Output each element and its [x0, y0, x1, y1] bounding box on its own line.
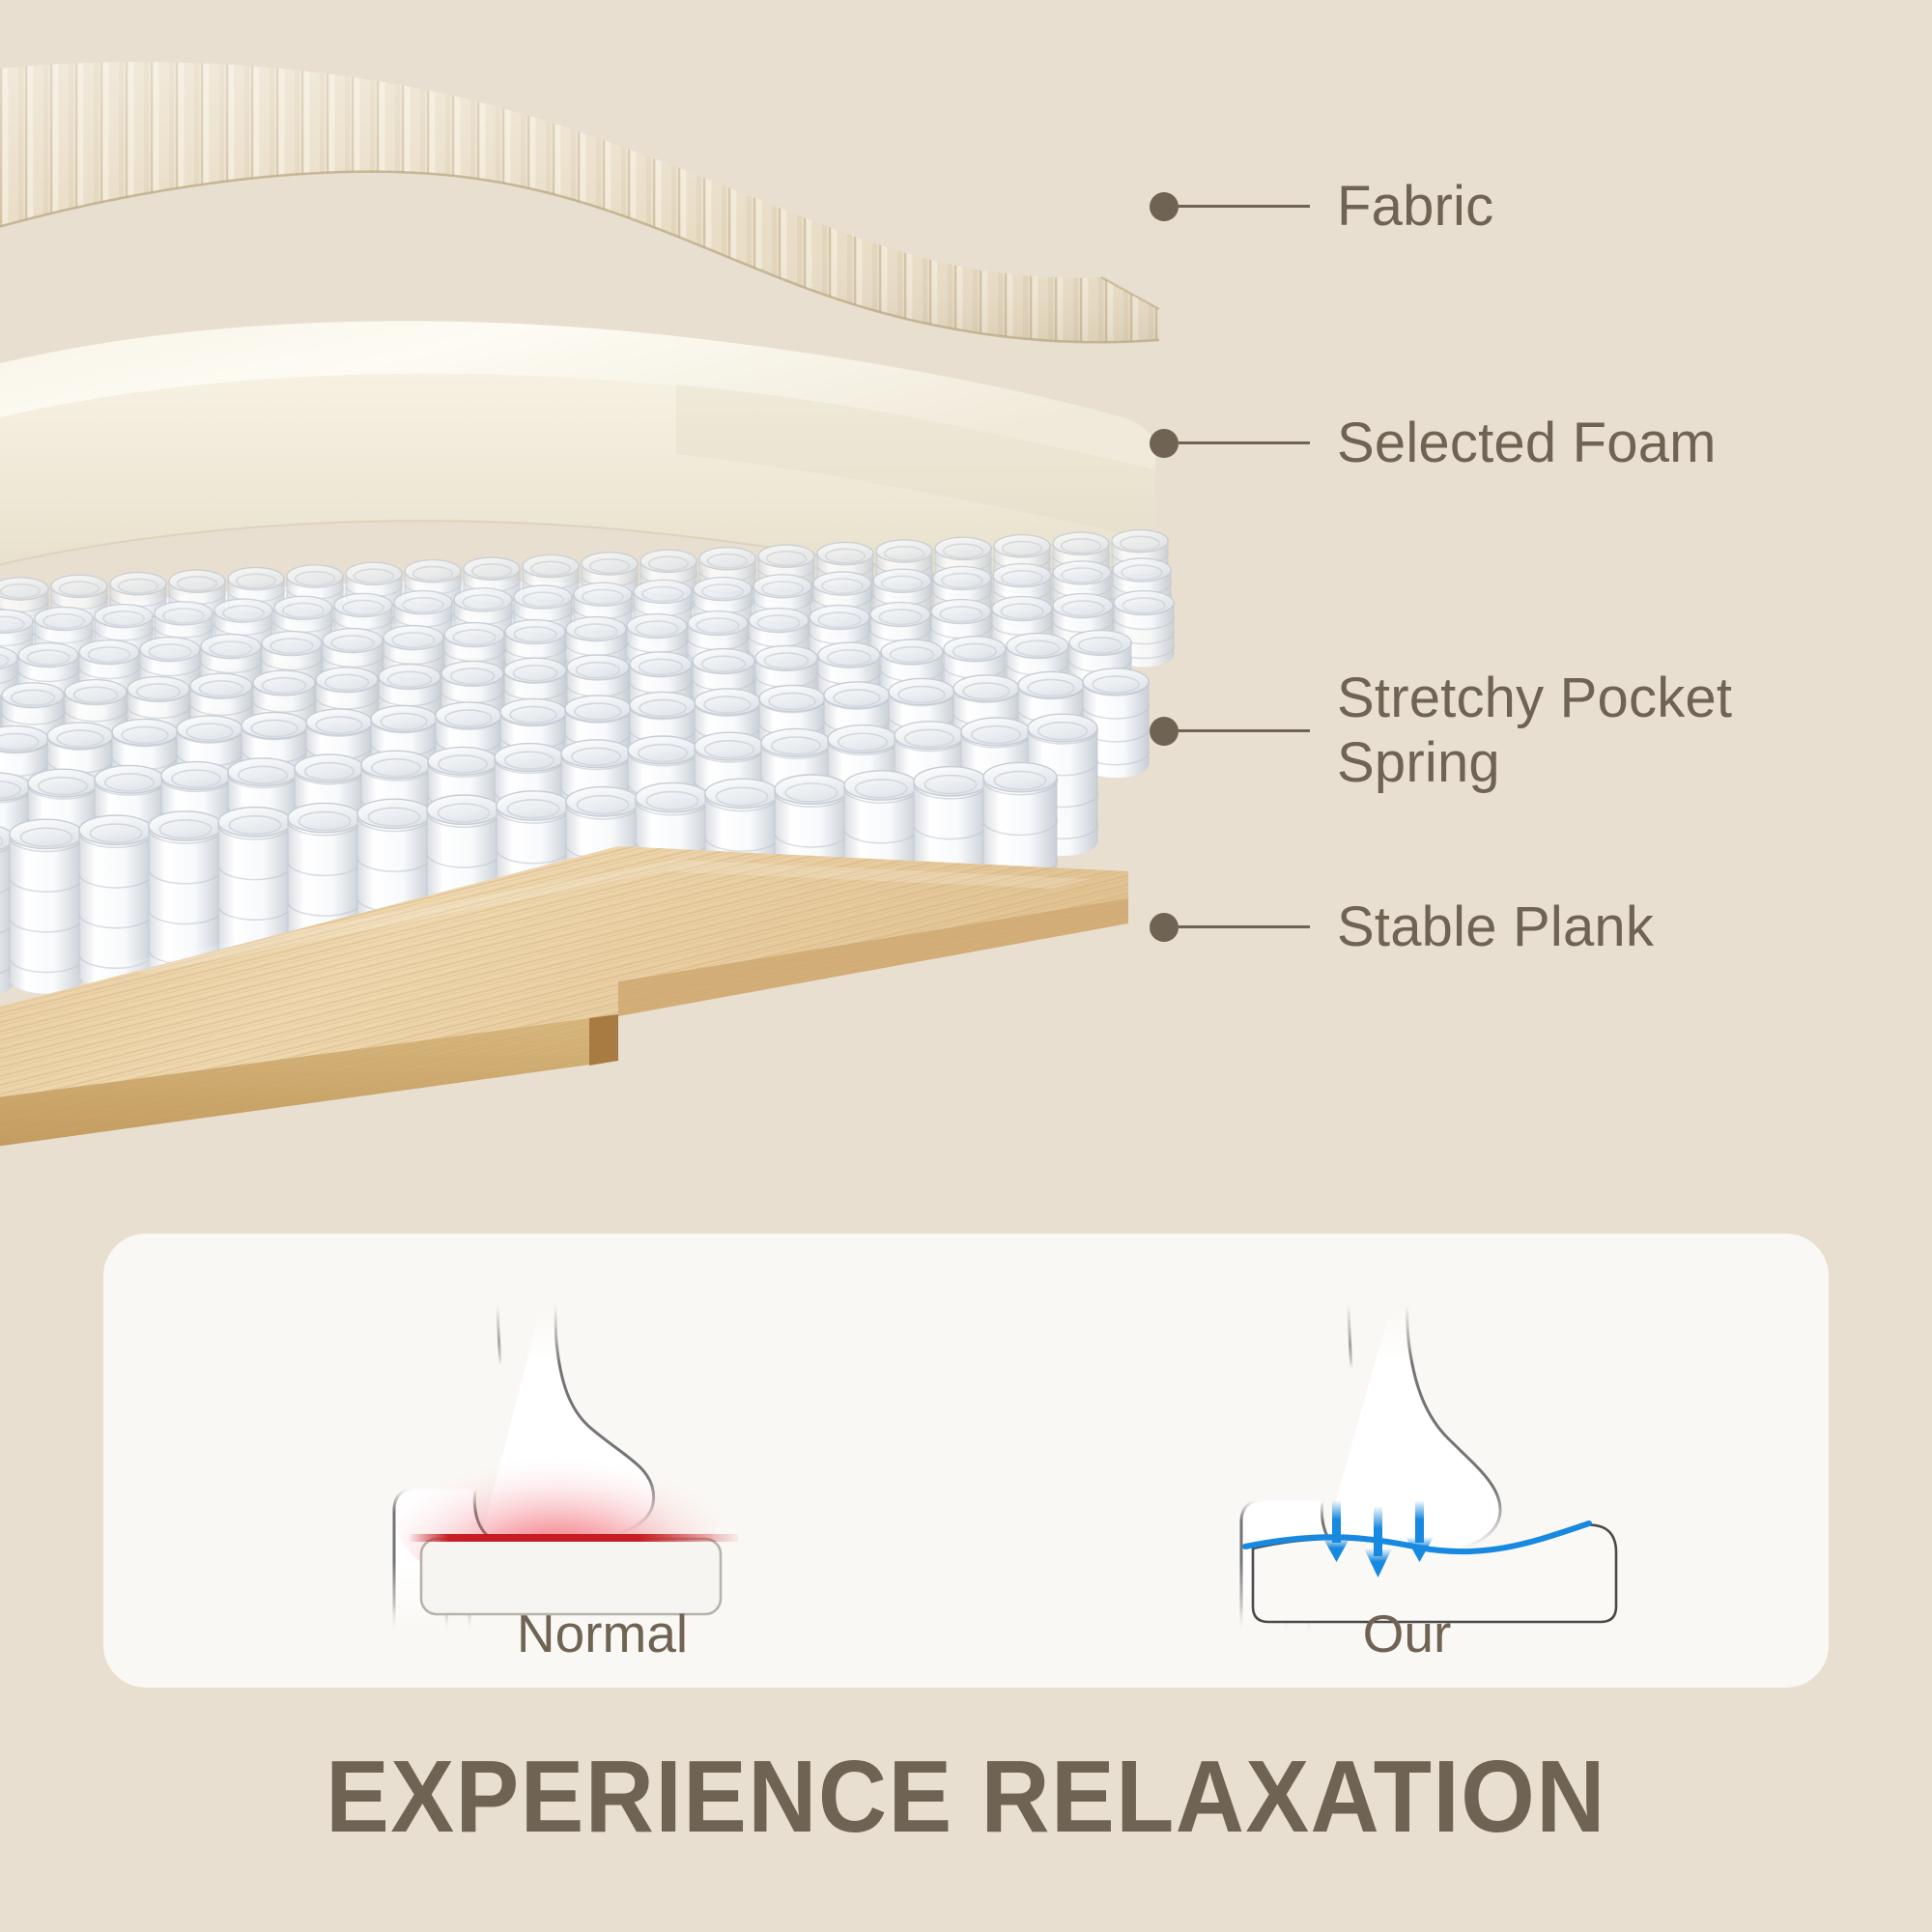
- comparison-panel-normal: Normal: [103, 1234, 966, 1688]
- pressure-contact-line: [410, 1534, 738, 1542]
- comparison-label-our: Our: [966, 1603, 1838, 1664]
- callout-label-selected-foam: Selected Foam: [1337, 411, 1717, 476]
- our-support-diagram: [1079, 1247, 1717, 1634]
- comparison-label-normal: Normal: [103, 1603, 1034, 1664]
- infographic-stage: Fabric Selected Foam Stretchy Pocket Spr…: [0, 0, 1932, 1932]
- mattress-layer-illustration: [0, 0, 1256, 1188]
- normal-pressure-diagram: [216, 1247, 854, 1634]
- comparison-card: Normal: [103, 1234, 1829, 1688]
- callout-label-stretchy-pocket-spring: Stretchy Pocket Spring: [1337, 667, 1732, 795]
- headline-experience-relaxation: EXPERIENCE RELAXATION: [68, 1739, 1864, 1856]
- comparison-panel-our: Our: [966, 1234, 1829, 1688]
- layer-shape-fabric: [0, 62, 1159, 342]
- callout-label-stable-plank: Stable Plank: [1337, 895, 1654, 960]
- pocket-spring-coil: [10, 819, 83, 993]
- callout-label-fabric: Fabric: [1337, 174, 1493, 240]
